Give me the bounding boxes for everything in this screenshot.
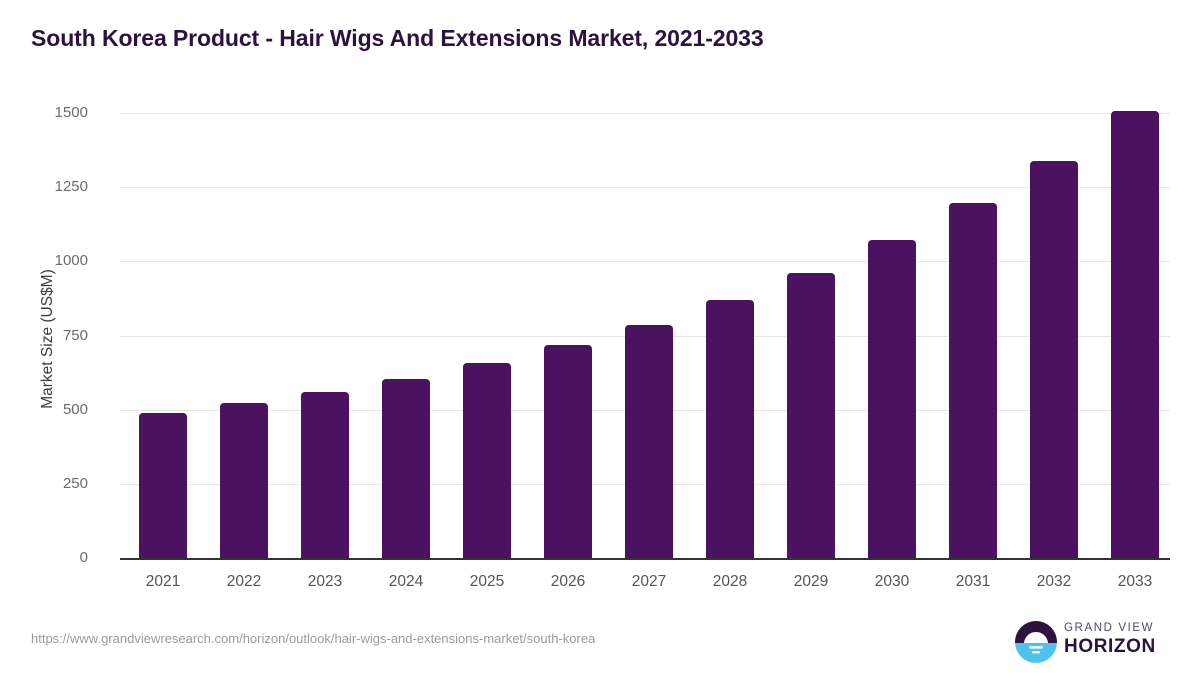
bar[interactable] <box>220 403 268 558</box>
x-axis-tick-label: 2030 <box>857 573 927 591</box>
gridline <box>120 187 1170 188</box>
x-axis-tick-label: 2029 <box>776 573 846 591</box>
x-axis-tick-label: 2026 <box>533 573 603 591</box>
page-title: South Korea Product - Hair Wigs And Exte… <box>31 25 764 52</box>
y-axis-tick-label: 1500 <box>0 104 88 121</box>
x-axis-tick-label: 2033 <box>1100 573 1170 591</box>
logo-text: GRAND VIEW HORIZON <box>1064 621 1172 658</box>
bar[interactable] <box>301 392 349 558</box>
bar[interactable] <box>1030 161 1078 558</box>
bar[interactable] <box>1111 111 1159 558</box>
bar[interactable] <box>949 203 997 558</box>
source-url[interactable]: https://www.grandviewresearch.com/horizo… <box>31 631 595 646</box>
y-axis-tick-label: 250 <box>0 475 88 492</box>
y-axis-tick-label: 1000 <box>0 252 88 269</box>
logo-text-top: GRAND VIEW <box>1064 621 1172 636</box>
bar[interactable] <box>787 273 835 558</box>
x-axis-tick-label: 2025 <box>452 573 522 591</box>
gridline <box>120 261 1170 262</box>
bar[interactable] <box>139 413 187 558</box>
gridline <box>120 113 1170 114</box>
bar[interactable] <box>868 240 916 558</box>
x-axis-tick-label: 2027 <box>614 573 684 591</box>
y-axis-tick-label: 1250 <box>0 178 88 195</box>
y-axis-tick-label: 0 <box>0 549 88 566</box>
x-axis-tick-label: 2021 <box>128 573 198 591</box>
logo-text-bottom: HORIZON <box>1064 636 1172 658</box>
x-axis-tick-label: 2024 <box>371 573 441 591</box>
x-axis-tick-label: 2028 <box>695 573 765 591</box>
x-axis-tick-label: 2022 <box>209 573 279 591</box>
x-axis-tick-label: 2023 <box>290 573 360 591</box>
plot-area: 0250500750100012501500 20212022202320242… <box>120 113 1170 558</box>
y-axis-tick-label: 500 <box>0 401 88 418</box>
bar[interactable] <box>544 345 592 558</box>
x-axis-tick-label: 2031 <box>938 573 1008 591</box>
bar[interactable] <box>625 325 673 558</box>
x-axis-line <box>120 558 1170 560</box>
bar[interactable] <box>706 300 754 558</box>
bar[interactable] <box>463 363 511 558</box>
sunrise-circle-icon <box>1014 620 1058 664</box>
chart-page: South Korea Product - Hair Wigs And Exte… <box>0 0 1200 675</box>
bar[interactable] <box>382 379 430 558</box>
y-axis-tick-label: 750 <box>0 327 88 344</box>
x-axis-tick-label: 2032 <box>1019 573 1089 591</box>
brand-logo[interactable]: GRAND VIEW HORIZON <box>1012 618 1172 666</box>
